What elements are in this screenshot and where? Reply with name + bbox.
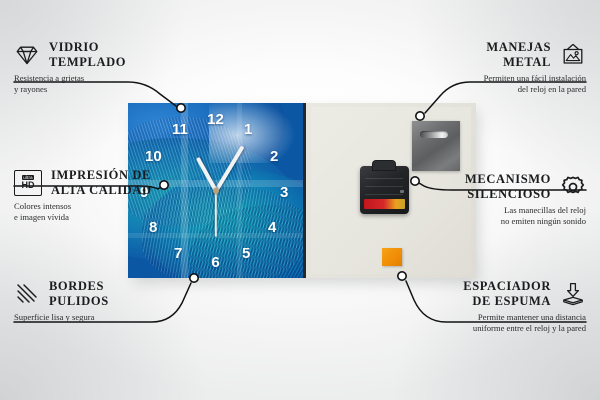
callout-desc-line1: Colores intensos bbox=[14, 198, 152, 212]
callout-title-line1: ESPACIADOR bbox=[463, 279, 551, 294]
callout-impresion-alta-calidad: ultra HD IMPRESIÓN DE ALTA CALIDAD Color… bbox=[14, 168, 152, 223]
clock-numeral-3: 3 bbox=[280, 185, 288, 200]
callout-title-line2: TEMPLADO bbox=[49, 55, 126, 70]
clock-second-hand bbox=[215, 191, 217, 237]
callout-vidrio-templado: VIDRIO TEMPLADO Resistencia a grietas y … bbox=[14, 40, 126, 95]
callout-mecanismo-silencioso: MECANISMO SILENCIOSO Las manecillas del … bbox=[465, 172, 586, 227]
clock-numeral-5: 5 bbox=[242, 246, 250, 261]
callout-desc-line1: Las manecillas del reloj bbox=[465, 202, 586, 216]
mechanism-terminal bbox=[400, 190, 404, 193]
callout-desc-line1: Permiten una fácil instalación bbox=[484, 70, 586, 84]
ultra-hd-icon: ultra HD bbox=[14, 170, 42, 196]
callout-title-line1: MECANISMO bbox=[465, 172, 551, 187]
diamond-icon bbox=[14, 42, 40, 68]
callout-title-line2: METAL bbox=[486, 55, 551, 70]
clock-numeral-1: 1 bbox=[244, 122, 252, 137]
quartz-clock-mechanism bbox=[360, 166, 409, 214]
callout-title-line1: VIDRIO bbox=[49, 40, 126, 55]
callout-desc-line2: no emiten ningún sonido bbox=[465, 216, 586, 227]
callout-title-line2: DE ESPUMA bbox=[463, 294, 551, 309]
callout-title-line1: MANEJAS bbox=[486, 40, 551, 55]
hanger-slot bbox=[420, 131, 448, 138]
wall-clock-front: 12 1 2 3 4 5 6 7 8 9 10 11 bbox=[128, 103, 306, 278]
foam-spacer-icon bbox=[560, 281, 586, 307]
clock-numeral-6: 6 bbox=[211, 255, 219, 270]
mechanism-hook bbox=[372, 160, 396, 171]
callout-title-line1: IMPRESIÓN DE bbox=[51, 168, 152, 183]
callout-desc-line1: Permite mantener una distancia bbox=[463, 309, 586, 323]
mechanism-label bbox=[364, 199, 405, 209]
clock-numeral-7: 7 bbox=[174, 246, 182, 261]
callout-desc-line2: del reloj en la pared bbox=[484, 84, 586, 95]
clock-numeral-4: 4 bbox=[268, 220, 276, 235]
clock-numeral-10: 10 bbox=[145, 149, 162, 164]
polished-edges-icon bbox=[14, 281, 40, 307]
clock-hand-pivot bbox=[213, 188, 219, 194]
callout-title-line2: ALTA CALIDAD bbox=[51, 183, 152, 198]
callout-desc-line2: y rayones bbox=[14, 84, 126, 95]
hd-badge-hd: HD bbox=[22, 181, 35, 190]
metal-hanger-plate bbox=[412, 121, 460, 171]
callout-title-line1: BORDES bbox=[49, 279, 109, 294]
clock-numeral-2: 2 bbox=[270, 149, 278, 164]
infographic-canvas: 12 1 2 3 4 5 6 7 8 9 10 11 bbox=[0, 0, 600, 400]
callout-desc-line2: e imagen vívida bbox=[14, 212, 152, 223]
callout-desc-line2: uniforme entre el reloj y la pared bbox=[463, 323, 586, 334]
callout-title-line2: PULIDOS bbox=[49, 294, 109, 309]
clock-numeral-11: 11 bbox=[172, 122, 188, 137]
foam-spacer-pad bbox=[382, 248, 402, 266]
callout-desc-line1: Resistencia a grietas bbox=[14, 70, 126, 84]
callout-title-line2: SILENCIOSO bbox=[465, 187, 551, 202]
callout-bordes-pulidos: BORDES PULIDOS Superficie lisa y segura bbox=[14, 279, 109, 323]
clock-numeral-12: 12 bbox=[207, 112, 224, 127]
callout-manejas-metal: MANEJAS METAL Permiten una fácil instala… bbox=[484, 40, 586, 95]
callout-espaciador-espuma: ESPACIADOR DE ESPUMA Permite mantener un… bbox=[463, 279, 586, 334]
callout-desc-line1: Superficie lisa y segura bbox=[14, 309, 109, 323]
wall-hanger-icon bbox=[560, 42, 586, 68]
gear-icon bbox=[560, 174, 586, 200]
wall-clock-back-panel bbox=[306, 103, 476, 278]
product-image: 12 1 2 3 4 5 6 7 8 9 10 11 bbox=[128, 103, 476, 278]
